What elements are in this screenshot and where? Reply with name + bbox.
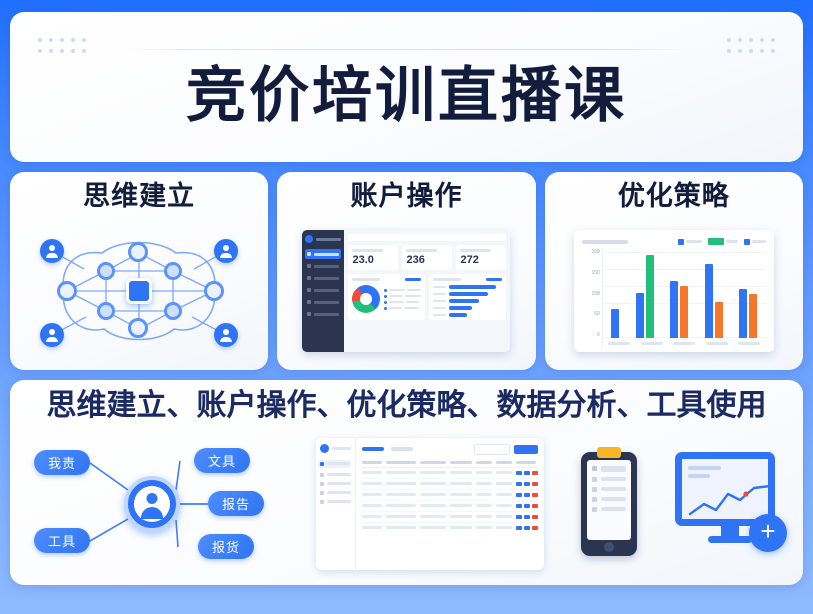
table-tabs — [362, 447, 413, 451]
header-card: 竞价培训直播课 — [10, 12, 803, 162]
table-row[interactable] — [362, 468, 538, 479]
chart-x-axis — [603, 338, 766, 348]
y-tick: 100 — [582, 291, 600, 297]
page-title: 竞价培训直播课 — [186, 66, 627, 126]
bar — [705, 264, 713, 338]
dashboard-nav-item[interactable] — [305, 273, 341, 283]
bar — [715, 302, 723, 338]
feature-card-title: 优化策略 — [618, 181, 730, 212]
row-actions[interactable] — [516, 482, 538, 486]
bar-group — [739, 249, 757, 338]
monitor-neck — [721, 526, 739, 536]
feature-card-art: 200 150 100 50 0 — [545, 212, 803, 370]
network-user-icon-1 — [40, 239, 64, 263]
dot-grid-icon-left — [38, 38, 86, 53]
mindmap-pill-reimburse[interactable]: 报货 — [198, 534, 254, 559]
monitor-chart-icon: + — [675, 452, 785, 556]
subtitle: 思维建立、账户操作、优化策略、数据分析、工具使用 — [47, 388, 767, 424]
row-actions[interactable] — [516, 504, 538, 508]
bar — [670, 281, 678, 338]
bar — [739, 289, 747, 338]
chart-legend — [678, 238, 766, 245]
dashboard-breadcrumb — [348, 234, 506, 241]
bar-group — [670, 249, 688, 338]
x-tick — [706, 342, 728, 345]
table-content — [356, 438, 544, 570]
feature-card-art — [10, 212, 268, 370]
x-tick — [641, 342, 663, 345]
dashboard-sidebar — [302, 230, 344, 352]
bar-group — [611, 249, 619, 338]
feature-card-mindset[interactable]: 思维建立 — [10, 172, 268, 370]
clipboard-icon — [581, 452, 637, 556]
mindmap-pill-tool[interactable]: 工具 — [34, 528, 90, 553]
table-nav-item[interactable] — [320, 491, 351, 495]
network-user-icon-2 — [214, 239, 238, 263]
legend-item — [708, 238, 738, 245]
clipboard-item — [592, 487, 626, 492]
mindmap-diagram: 我责 工具 文具 报告 报货 — [28, 444, 278, 564]
header-divider — [125, 49, 688, 50]
feature-card-title: 账户操作 — [350, 181, 462, 212]
y-tick: 150 — [582, 270, 600, 276]
kpi-value: 272 — [460, 255, 502, 266]
dashboard-mockup: 23.0 236 272 — [302, 230, 510, 352]
clipboard-page — [587, 460, 631, 540]
kpi-card: 236 — [402, 245, 452, 270]
chart-title — [582, 240, 628, 244]
clipboard-home-button — [604, 542, 614, 552]
table-row[interactable] — [362, 479, 538, 490]
mindmap-pill-stationery[interactable]: 文具 — [194, 448, 250, 473]
dashboard-kpi-row: 23.0 236 272 — [348, 245, 506, 270]
table-sidebar — [316, 438, 356, 570]
donut-legend — [380, 289, 421, 310]
mindmap-pill-report[interactable]: 报告 — [208, 491, 264, 516]
y-tick: 0 — [582, 332, 600, 338]
bottom-art-row: 我责 工具 文具 报告 报货 — [10, 424, 803, 585]
dashboard-nav-item[interactable] — [305, 297, 341, 307]
x-tick — [608, 342, 630, 345]
clipboard-item — [592, 477, 626, 482]
donut-panel — [348, 274, 425, 320]
chart-y-axis: 200 150 100 50 0 — [582, 249, 602, 348]
row-actions[interactable] — [516, 515, 538, 519]
bar-group — [636, 249, 654, 338]
kpi-value: 23.0 — [352, 255, 394, 266]
clipboard-title-row — [592, 466, 626, 472]
legend-item — [744, 239, 766, 245]
clipboard-item — [592, 507, 626, 512]
clipboard-clip — [597, 447, 621, 458]
table-tab[interactable] — [391, 447, 413, 451]
row-actions[interactable] — [516, 471, 538, 475]
bar — [749, 294, 757, 338]
search-button[interactable] — [514, 445, 538, 454]
table-tab[interactable] — [362, 447, 384, 451]
table-mockup — [316, 438, 544, 570]
table-row[interactable] — [362, 512, 538, 523]
dashboard-nav-item[interactable] — [305, 285, 341, 295]
hbar-panel — [429, 274, 506, 320]
chart-bar-groups — [603, 249, 766, 338]
dashboard-content: 23.0 236 272 — [344, 230, 510, 352]
clipboard-item — [592, 497, 626, 502]
feature-card-art: 23.0 236 272 — [277, 212, 535, 370]
bar-group — [705, 249, 723, 338]
table-row[interactable] — [362, 523, 538, 533]
bar-chart: 200 150 100 50 0 — [574, 230, 774, 352]
chart-plot — [602, 249, 766, 348]
y-tick: 50 — [582, 311, 600, 317]
y-tick: 200 — [582, 249, 600, 255]
bar — [680, 286, 688, 338]
kpi-card: 23.0 — [348, 245, 398, 270]
network-diagram — [34, 231, 244, 351]
network-user-icon-3 — [40, 323, 64, 347]
dashboard-nav-item[interactable] — [305, 249, 341, 259]
monitor-base — [708, 536, 752, 543]
table-nav-item[interactable] — [320, 500, 351, 504]
bar — [636, 293, 644, 338]
feature-card-title: 思维建立 — [83, 181, 195, 212]
add-badge-icon[interactable]: + — [749, 514, 787, 552]
table-nav-item[interactable] — [318, 460, 351, 468]
legend-item — [678, 239, 702, 245]
network-user-icon-4 — [214, 323, 238, 347]
table-header-row — [362, 461, 538, 468]
dashboard-nav-item[interactable] — [305, 261, 341, 271]
dashboard-nav-item[interactable] — [305, 309, 341, 319]
kpi-card: 272 — [456, 245, 506, 270]
poster-root: 竞价培训直播课 思维建立 — [0, 0, 813, 614]
x-tick — [673, 342, 695, 345]
mindmap-avatar — [124, 476, 180, 532]
chart-header — [582, 238, 766, 245]
table-nav-item[interactable] — [320, 473, 351, 477]
dot-grid-icon-right — [727, 38, 775, 53]
table-logo — [320, 444, 351, 453]
feature-card-row: 思维建立 — [10, 172, 803, 370]
table-search-area — [474, 444, 538, 455]
dashboard-logo — [305, 235, 341, 243]
row-actions[interactable] — [516, 526, 538, 530]
row-actions[interactable] — [516, 493, 538, 497]
kpi-value: 236 — [406, 255, 448, 266]
dashboard-panels — [348, 274, 506, 320]
feature-card-account[interactable]: 账户操作 — [277, 172, 535, 370]
table-row[interactable] — [362, 501, 538, 512]
feature-card-optimize[interactable]: 优化策略 200 150 — [545, 172, 803, 370]
x-tick — [738, 342, 760, 345]
donut-chart — [352, 285, 380, 313]
chart-body: 200 150 100 50 0 — [582, 249, 766, 348]
network-core-node — [126, 278, 152, 304]
bar — [611, 309, 619, 338]
bar — [646, 255, 654, 338]
table-row[interactable] — [362, 490, 538, 501]
search-input[interactable] — [474, 444, 510, 455]
bottom-card: 思维建立、账户操作、优化策略、数据分析、工具使用 我责 工具 文具 — [10, 380, 803, 585]
table-toolbar — [362, 444, 538, 455]
mindmap-pill-duty[interactable]: 我责 — [34, 450, 90, 475]
table-nav-item[interactable] — [320, 482, 351, 486]
line-chart-icon — [688, 484, 774, 518]
